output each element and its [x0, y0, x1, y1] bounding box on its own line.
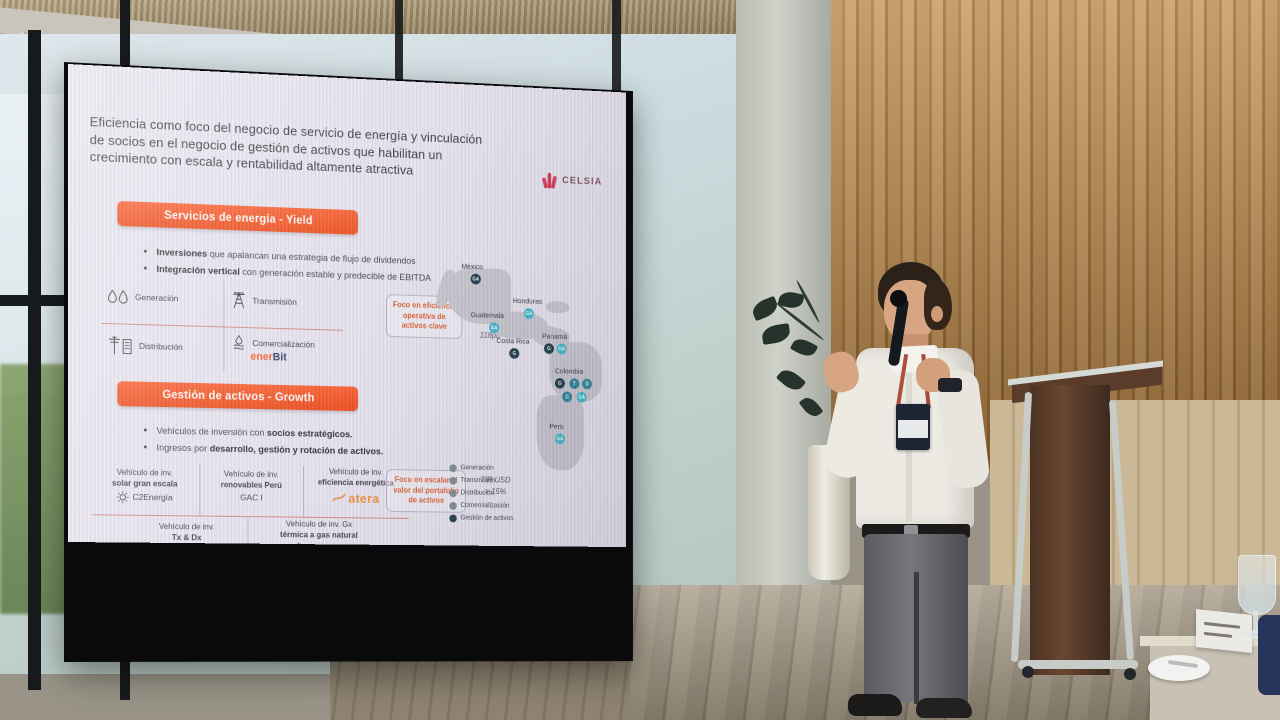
map-pin-mexico[interactable]: GA	[471, 274, 481, 285]
investment-vehicles-grid: Vehículo de inv. solar gran escala C2Ene…	[92, 462, 409, 547]
vehicle-kind-2: solar gran escala	[112, 479, 177, 489]
map-label-colombia: Colombia	[555, 366, 583, 375]
grid-cell-distribucion: Distribución	[108, 335, 183, 357]
map-pin-guatemala[interactable]: GA	[489, 322, 499, 333]
map-label-costa-rica: Costa Rica	[496, 336, 529, 346]
map-pin-colombia-4[interactable]: C	[562, 392, 572, 403]
ear	[931, 306, 943, 322]
vehicle-brand: GAC I	[240, 492, 262, 504]
section2-bullets: Vehículos de inversión con socios estrat…	[117, 422, 469, 460]
map-pin-colombia[interactable]: G	[555, 378, 565, 389]
map-pin-panama[interactable]: G	[544, 343, 554, 354]
water-drop-flame-icon	[108, 289, 130, 304]
presenter	[820, 262, 1010, 720]
legend-label: Distribución	[460, 488, 494, 501]
vehicle-kind-2: eficiencia energética	[318, 478, 394, 488]
enerbit-ener: ener	[250, 351, 272, 363]
grid-label: Generación	[135, 292, 178, 303]
atera-icon	[332, 493, 345, 504]
vehicle-kind-2: térmica a gas natural	[280, 530, 358, 540]
map-label-panama: Panamá	[542, 332, 567, 341]
wristwatch	[938, 378, 962, 392]
grid-cell-transmision: Transmisión	[231, 291, 297, 311]
vehicle-brand: atera	[348, 490, 379, 508]
plate	[1148, 655, 1210, 681]
distribution-pole-icon	[108, 335, 134, 356]
enerbit-bit: Bit	[273, 351, 287, 363]
shoe	[916, 698, 972, 718]
legend-label: Transmisión	[460, 475, 495, 488]
vehicle-kind-1: Vehículo de inv.	[92, 466, 198, 479]
grid-label: Transmisión	[252, 296, 296, 307]
map-pin-colombia-5[interactable]: GA	[577, 392, 587, 403]
energy-services-grid: Generación Transmisión Distribución	[102, 277, 343, 375]
vehicle-solar: Vehículo de inv. solar gran escala C2Ene…	[92, 466, 198, 504]
map-pin-costa-rica[interactable]: G	[509, 348, 519, 359]
legend-dot-generacion	[449, 465, 456, 473]
legend-dot-transmision	[449, 477, 456, 485]
map-label-honduras: Honduras	[513, 296, 542, 306]
legend-label: Generación	[460, 463, 493, 476]
map-legend: Generación Transmisión Distribución Come…	[449, 462, 513, 525]
screenshot-stage: Eficiencia como foco del negocio de serv…	[0, 0, 1280, 720]
transmission-tower-icon	[231, 291, 246, 309]
slide: Eficiencia como foco del negocio de serv…	[68, 64, 626, 547]
band-servicios-energia: Servicios de energía - Yield	[117, 201, 358, 235]
legend-dot-gestion	[449, 515, 456, 523]
band-gestion-activos: Gestión de activos - Growth	[117, 381, 358, 411]
microphone-head	[890, 290, 907, 307]
window-mullion	[28, 30, 41, 690]
vehicle-renovables-peru: Vehículo de inv. renovables Perú GAC I	[201, 468, 301, 505]
map-label-guatemala: Guatemala	[471, 310, 504, 320]
legend-dot-comercializacion	[449, 502, 456, 510]
legend-row: Comercialización	[449, 500, 513, 513]
map-pin-peru[interactable]: GA	[555, 433, 565, 444]
sun-icon	[117, 491, 130, 504]
legend-label: Comercialización	[460, 500, 509, 513]
vehicle-brand: C2Energía	[133, 492, 173, 504]
grid-cell-generacion: Generación	[108, 289, 179, 305]
shoe	[848, 694, 902, 716]
map-label-peru: Perú	[549, 422, 563, 431]
vehicle-kind-1: Vehículo de inv.	[201, 468, 301, 480]
slide-title: Eficiencia como foco del negocio de serv…	[90, 113, 490, 183]
map-pin-colombia-2[interactable]: T	[569, 378, 579, 389]
grid-cell-comercializacion: Comercialización enerBit	[231, 335, 315, 365]
grid-label: Distribución	[139, 341, 183, 352]
commercialization-icon	[231, 335, 246, 351]
legend-row: Gestión de activos	[449, 512, 513, 525]
legend-row: Transmisión	[449, 475, 513, 488]
wine-glass	[1238, 555, 1276, 615]
map-pin-panama-2[interactable]: GA	[557, 344, 567, 355]
legend-label: Gestión de activos	[460, 513, 513, 526]
map-pin-honduras[interactable]: GA	[524, 308, 534, 319]
celsia-flame-icon	[543, 171, 558, 189]
vehicle-kind-1: Vehículo de inv.	[129, 521, 244, 533]
blue-bag	[1258, 615, 1280, 695]
legend-row: Distribución	[449, 487, 513, 500]
legend-dot-distribucion	[449, 490, 456, 498]
vehicle-termica-gas: Vehículo de inv. Gx térmica a gas natura…	[252, 518, 385, 547]
peru-shape	[537, 395, 584, 471]
vehicle-kind-1: Vehículo de inv. Gx	[252, 518, 385, 530]
grid-label: Comercialización	[252, 338, 314, 349]
presentation-screen[interactable]: Eficiencia como foco del negocio de serv…	[68, 64, 626, 547]
legend-row: Generación	[449, 462, 513, 476]
hair-back	[924, 280, 952, 330]
celsia-logo-text: CELSIA	[562, 175, 602, 187]
map-pin-colombia-3[interactable]: D	[582, 379, 592, 390]
map-label-mexico: México	[461, 262, 483, 271]
caribbean-shape	[546, 301, 570, 313]
vehicle-kind-2: Tx & Dx	[172, 533, 202, 542]
enerbit-logo: enerBit	[250, 351, 286, 364]
celsia-logo: CELSIA	[543, 171, 602, 191]
vehicle-kind-2: renovables Perú	[221, 480, 282, 490]
